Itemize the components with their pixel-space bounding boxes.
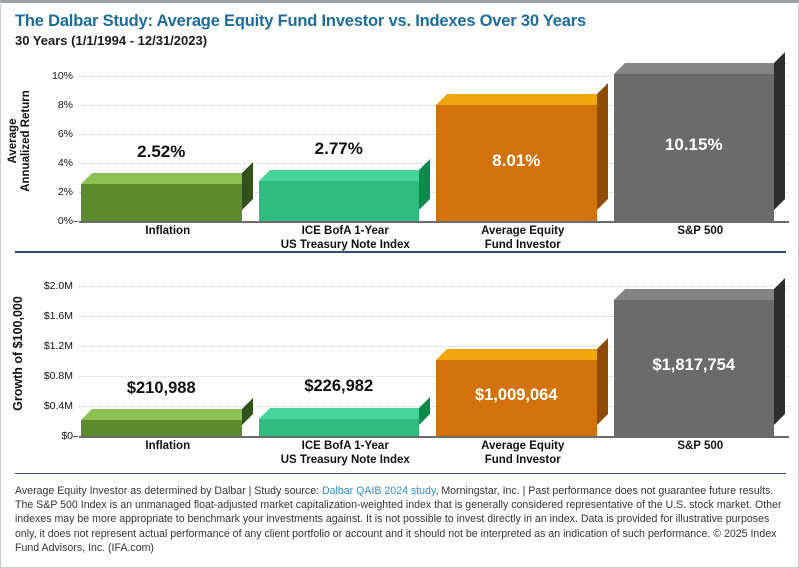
bar-side-face bbox=[774, 278, 785, 425]
bar-value-label: 2.77% bbox=[259, 139, 420, 159]
bar-value-label: $226,982 bbox=[259, 377, 420, 396]
bar-4: 10.15% bbox=[614, 74, 775, 221]
y-axis-tick bbox=[73, 436, 78, 437]
bar-front-face bbox=[81, 420, 242, 436]
x-axis-category-label-3: Average EquityFund Investor bbox=[434, 439, 612, 467]
bar-front-face bbox=[81, 184, 242, 221]
category-label-line1: Inflation bbox=[79, 224, 257, 238]
plot-area-growth: $0$0.4M$0.8M$1.2M$1.6M$2.0M$210,988$226,… bbox=[1, 275, 799, 436]
page-subtitle: 30 Years (1/1/1994 - 12/31/2023) bbox=[15, 32, 784, 49]
bar-4: $1,817,754 bbox=[614, 300, 775, 436]
x-axis-category-label-3: Average EquityFund Investor bbox=[434, 224, 612, 252]
disclaimer-footer: Average Equity Investor as determined by… bbox=[15, 484, 786, 555]
bar-2: 2.77% bbox=[259, 181, 420, 221]
bar-top-face bbox=[614, 63, 786, 74]
gridline bbox=[79, 286, 789, 287]
y-axis-tick-label: $2.0M bbox=[44, 280, 73, 292]
y-axis-tick-label: $1.6M bbox=[44, 310, 73, 322]
x-axis-category-label-2: ICE BofA 1-YearUS Treasury Note Index bbox=[257, 439, 435, 467]
bar-front-face bbox=[259, 181, 420, 221]
bar-side-face bbox=[419, 397, 430, 425]
chart-panel-growth: Growth of $100,000 $0$0.4M$0.8M$1.2M$1.6… bbox=[1, 275, 799, 450]
y-axis-tick-label: $0.4M bbox=[44, 400, 73, 412]
y-axis-tick-label: 6% bbox=[58, 128, 73, 140]
x-axis-category-label-4: S&P 500 bbox=[612, 439, 790, 453]
bar-top-face bbox=[436, 349, 608, 360]
bar-value-label: $1,817,754 bbox=[614, 356, 775, 375]
bar-side-face bbox=[242, 162, 253, 210]
bar-value-label: $210,988 bbox=[81, 379, 242, 398]
bar-1: 2.52% bbox=[81, 184, 242, 221]
bar-side-face bbox=[242, 398, 253, 425]
bar-value-label: 10.15% bbox=[614, 135, 775, 155]
bar-value-label: $1,009,064 bbox=[436, 386, 597, 405]
bar-side-face bbox=[597, 338, 608, 425]
plot-area-returns: 0%2%4%6%8%10%2.52%2.77%8.01%10.15% bbox=[1, 65, 799, 221]
bar-top-face bbox=[81, 409, 253, 420]
bar-value-label: 2.52% bbox=[81, 142, 242, 162]
bar-value-label: 8.01% bbox=[436, 151, 597, 171]
category-label-line1: Average Equity bbox=[434, 224, 612, 238]
category-label-line1: ICE BofA 1-Year bbox=[257, 439, 435, 453]
x-axis-line bbox=[79, 221, 789, 223]
category-label-line1: ICE BofA 1-Year bbox=[257, 224, 435, 238]
y-axis-tick-label: 4% bbox=[58, 157, 73, 169]
bar-side-face bbox=[419, 159, 430, 210]
bar-3: 8.01% bbox=[436, 105, 597, 221]
category-label-line2: Fund Investor bbox=[434, 453, 612, 467]
bar-3: $1,009,064 bbox=[436, 360, 597, 436]
bar-side-face bbox=[774, 52, 785, 210]
x-axis-category-label-2: ICE BofA 1-YearUS Treasury Note Index bbox=[257, 224, 435, 252]
chart-panel-returns: Average Annualized Return 0%2%4%6%8%10%2… bbox=[1, 65, 799, 235]
y-axis-tick bbox=[73, 221, 78, 222]
panel-divider bbox=[15, 251, 786, 253]
bar-top-face bbox=[81, 173, 253, 184]
y-axis-tick-label: 2% bbox=[58, 186, 73, 198]
category-label-line1: S&P 500 bbox=[612, 439, 790, 453]
bar-2: $226,982 bbox=[259, 419, 420, 436]
category-label-line2: US Treasury Note Index bbox=[257, 453, 435, 467]
y-axis-tick-label: 10% bbox=[52, 70, 73, 82]
chart-page: The Dalbar Study: Average Equity Fund In… bbox=[0, 0, 799, 568]
category-label-line2: US Treasury Note Index bbox=[257, 238, 435, 252]
bar-top-face bbox=[259, 170, 431, 181]
page-title: The Dalbar Study: Average Equity Fund In… bbox=[15, 11, 784, 31]
x-axis-line bbox=[79, 436, 789, 438]
x-axis-category-label-1: Inflation bbox=[79, 439, 257, 453]
x-axis-category-label-1: Inflation bbox=[79, 224, 257, 238]
chart-header: The Dalbar Study: Average Equity Fund In… bbox=[1, 3, 798, 49]
dalbar-study-link[interactable]: Dalbar QAIB 2024 study bbox=[322, 485, 435, 497]
bar-top-face bbox=[614, 289, 786, 300]
category-label-line1: Average Equity bbox=[434, 439, 612, 453]
y-axis-tick-label: 8% bbox=[58, 99, 73, 111]
y-axis-tick-label: $1.2M bbox=[44, 340, 73, 352]
bar-side-face bbox=[597, 83, 608, 210]
bar-1: $210,988 bbox=[81, 420, 242, 436]
x-axis-category-label-4: S&P 500 bbox=[612, 224, 790, 238]
category-label-line1: S&P 500 bbox=[612, 224, 790, 238]
category-label-line1: Inflation bbox=[79, 439, 257, 453]
disclaimer-text-part1: Average Equity Investor as determined by… bbox=[15, 485, 322, 497]
footer-divider bbox=[15, 473, 786, 474]
category-label-line2: Fund Investor bbox=[434, 238, 612, 252]
bar-front-face bbox=[259, 419, 420, 436]
y-axis-tick-label: $0.8M bbox=[44, 370, 73, 382]
bar-top-face bbox=[436, 94, 608, 105]
bar-top-face bbox=[259, 408, 431, 419]
x-axis-labels-growth: InflationICE BofA 1-YearUS Treasury Note… bbox=[1, 439, 799, 471]
